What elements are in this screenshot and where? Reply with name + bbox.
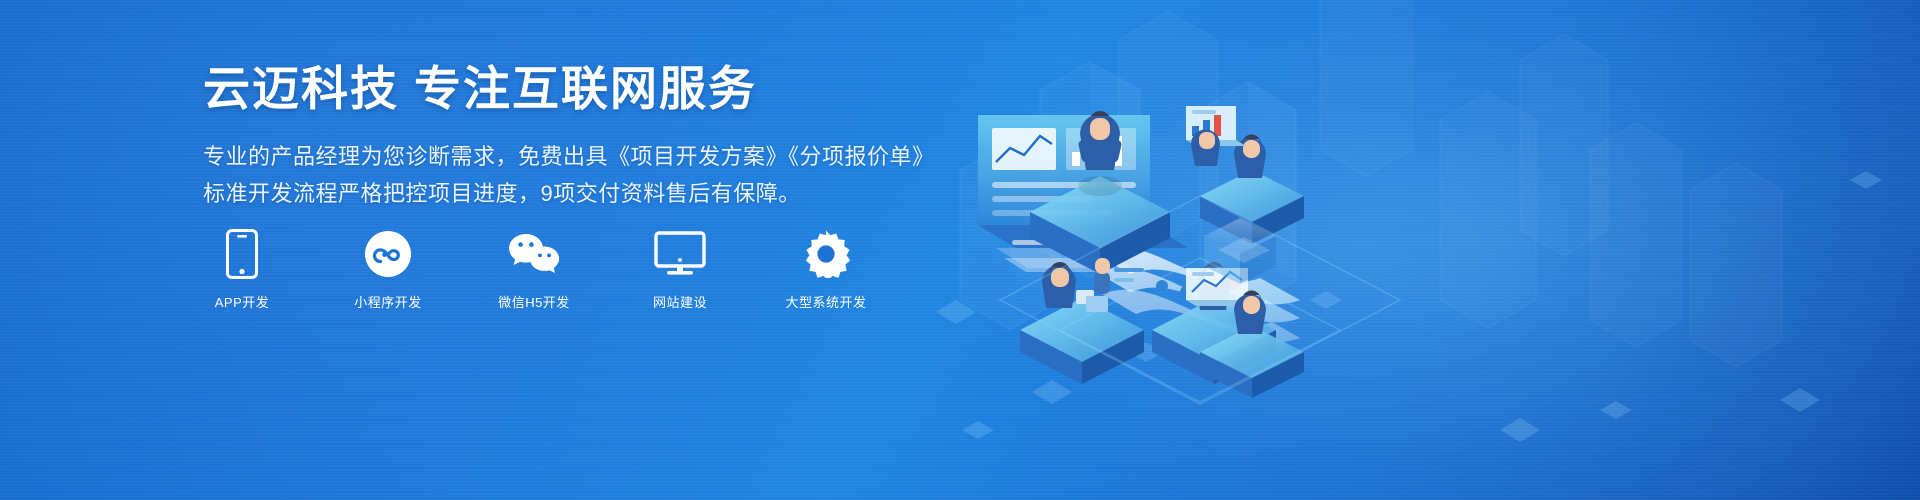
mini-program-icon [364, 228, 412, 280]
illustration-svg [900, 0, 1920, 500]
service-item-system[interactable]: 大型系统开发 [789, 228, 863, 311]
service-label-miniprogram: 小程序开发 [354, 292, 422, 311]
subtitle-line-1: 专业的产品经理为您诊断需求，免费出具《项目开发方案》《分项报价单》 [203, 140, 963, 175]
service-icon-row: APP开发 小程序开发 [205, 228, 863, 311]
page-title: 云迈科技 专注互联网服务 [203, 62, 963, 116]
person-presenter [1078, 111, 1122, 196]
service-label-wechat: 微信H5开发 [498, 292, 570, 311]
isometric-tech-team-illustration [900, 0, 1920, 500]
service-item-miniprogram[interactable]: 小程序开发 [351, 228, 425, 311]
mobile-phone-icon [226, 228, 258, 280]
wechat-icon [506, 228, 562, 280]
service-item-wechat[interactable]: 微信H5开发 [497, 228, 571, 311]
service-label-system: 大型系统开发 [786, 292, 867, 311]
monitor-icon [654, 228, 706, 280]
service-item-website[interactable]: 网站建设 [643, 228, 717, 311]
service-label-website: 网站建设 [653, 292, 707, 311]
subtitle-line-2: 标准开发流程严格把控项目进度，9项交付资料售后有保障。 [203, 177, 963, 212]
banner-text-block: 云迈科技 专注互联网服务 专业的产品经理为您诊断需求，免费出具《项目开发方案》《… [203, 62, 963, 212]
hero-banner: 云迈科技 专注互联网服务 专业的产品经理为您诊断需求，免费出具《项目开发方案》《… [0, 0, 1920, 500]
gear-icon [802, 228, 850, 280]
person-far-right [1191, 130, 1220, 167]
service-item-app[interactable]: APP开发 [205, 228, 279, 311]
service-label-app: APP开发 [215, 292, 270, 311]
